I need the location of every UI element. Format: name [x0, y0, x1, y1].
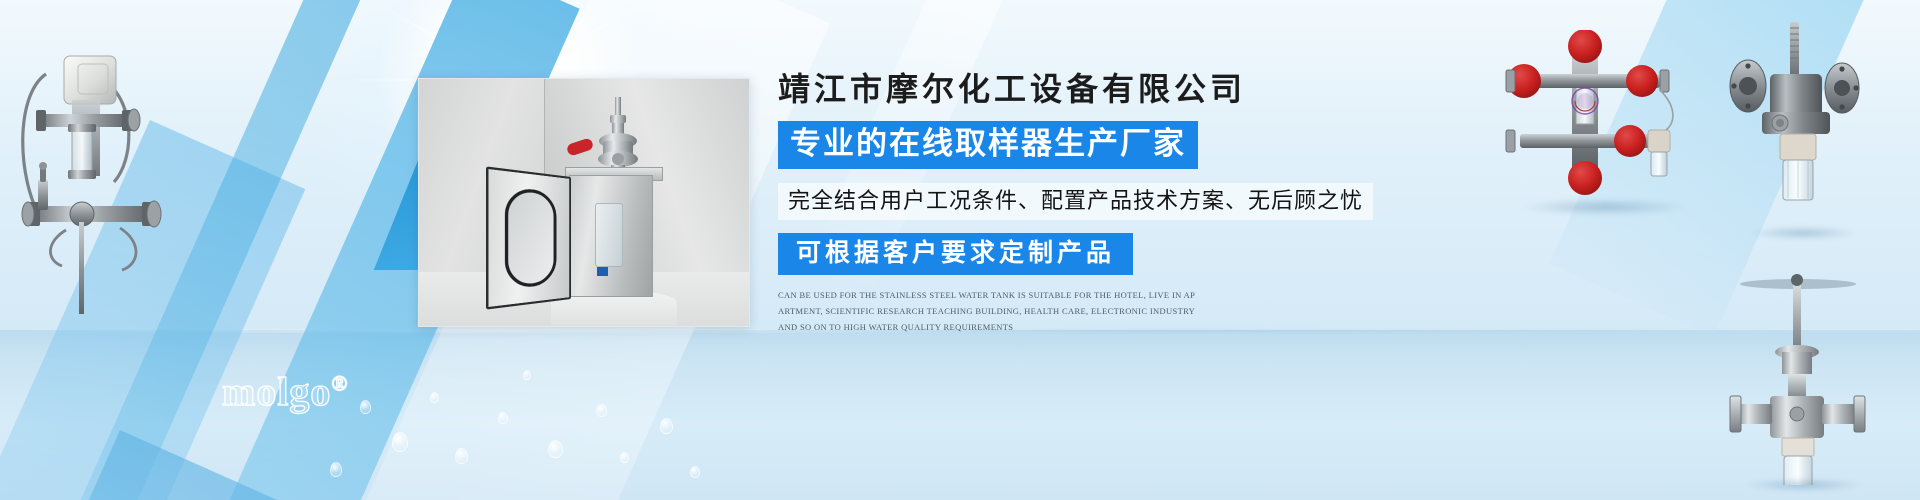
water-droplet	[523, 370, 531, 380]
right-product-lever-valve	[1718, 18, 1878, 233]
water-droplet	[620, 452, 629, 463]
water-droplet	[498, 412, 508, 424]
flanged-sampler-illustration	[1720, 270, 1880, 485]
right-product-flanged-sampler	[1720, 270, 1880, 485]
product-shadow	[1748, 226, 1858, 240]
company-name: 靖江市摩尔化工设备有限公司	[778, 72, 1398, 107]
headline-callout: 可根据客户要求定制产品	[778, 233, 1133, 275]
english-description: CAN BE USED FOR THE STAINLESS STEEL WATE…	[778, 288, 1198, 335]
watermark-logo-text: molgo	[222, 369, 331, 414]
water-droplet	[660, 418, 673, 434]
headline-primary: 专业的在线取样器生产厂家	[778, 121, 1198, 169]
lever-valve-illustration	[1718, 18, 1878, 233]
water-droplet	[430, 392, 439, 403]
left-product-sampler	[10, 30, 180, 330]
right-product-cross-sampler	[1500, 30, 1690, 210]
promo-banner: 靖江市摩尔化工设备有限公司 专业的在线取样器生产厂家 完全结合用户工况条件、配置…	[0, 0, 1920, 500]
water-droplet	[392, 432, 408, 452]
product-photo	[418, 78, 750, 327]
water-droplet	[360, 400, 371, 414]
headline-block: 靖江市摩尔化工设备有限公司 专业的在线取样器生产厂家 完全结合用户工况条件、配置…	[778, 72, 1398, 335]
water-droplet	[455, 448, 468, 464]
water-droplet	[548, 440, 563, 458]
left-sampler-illustration	[10, 30, 180, 330]
photo-cabinet-door	[486, 166, 571, 309]
headline-subline: 完全结合用户工况条件、配置产品技术方案、无后顾之忧	[778, 183, 1373, 220]
water-droplet	[596, 404, 607, 417]
water-droplet	[690, 466, 700, 478]
registered-mark-icon: ®	[331, 372, 348, 396]
cross-sampler-illustration	[1500, 30, 1690, 210]
photo-sample-bottle	[595, 203, 623, 267]
product-shadow	[1520, 198, 1690, 216]
water-droplet	[330, 462, 342, 477]
watermark-logo: molgo®	[222, 368, 348, 415]
product-shadow	[1744, 478, 1864, 492]
